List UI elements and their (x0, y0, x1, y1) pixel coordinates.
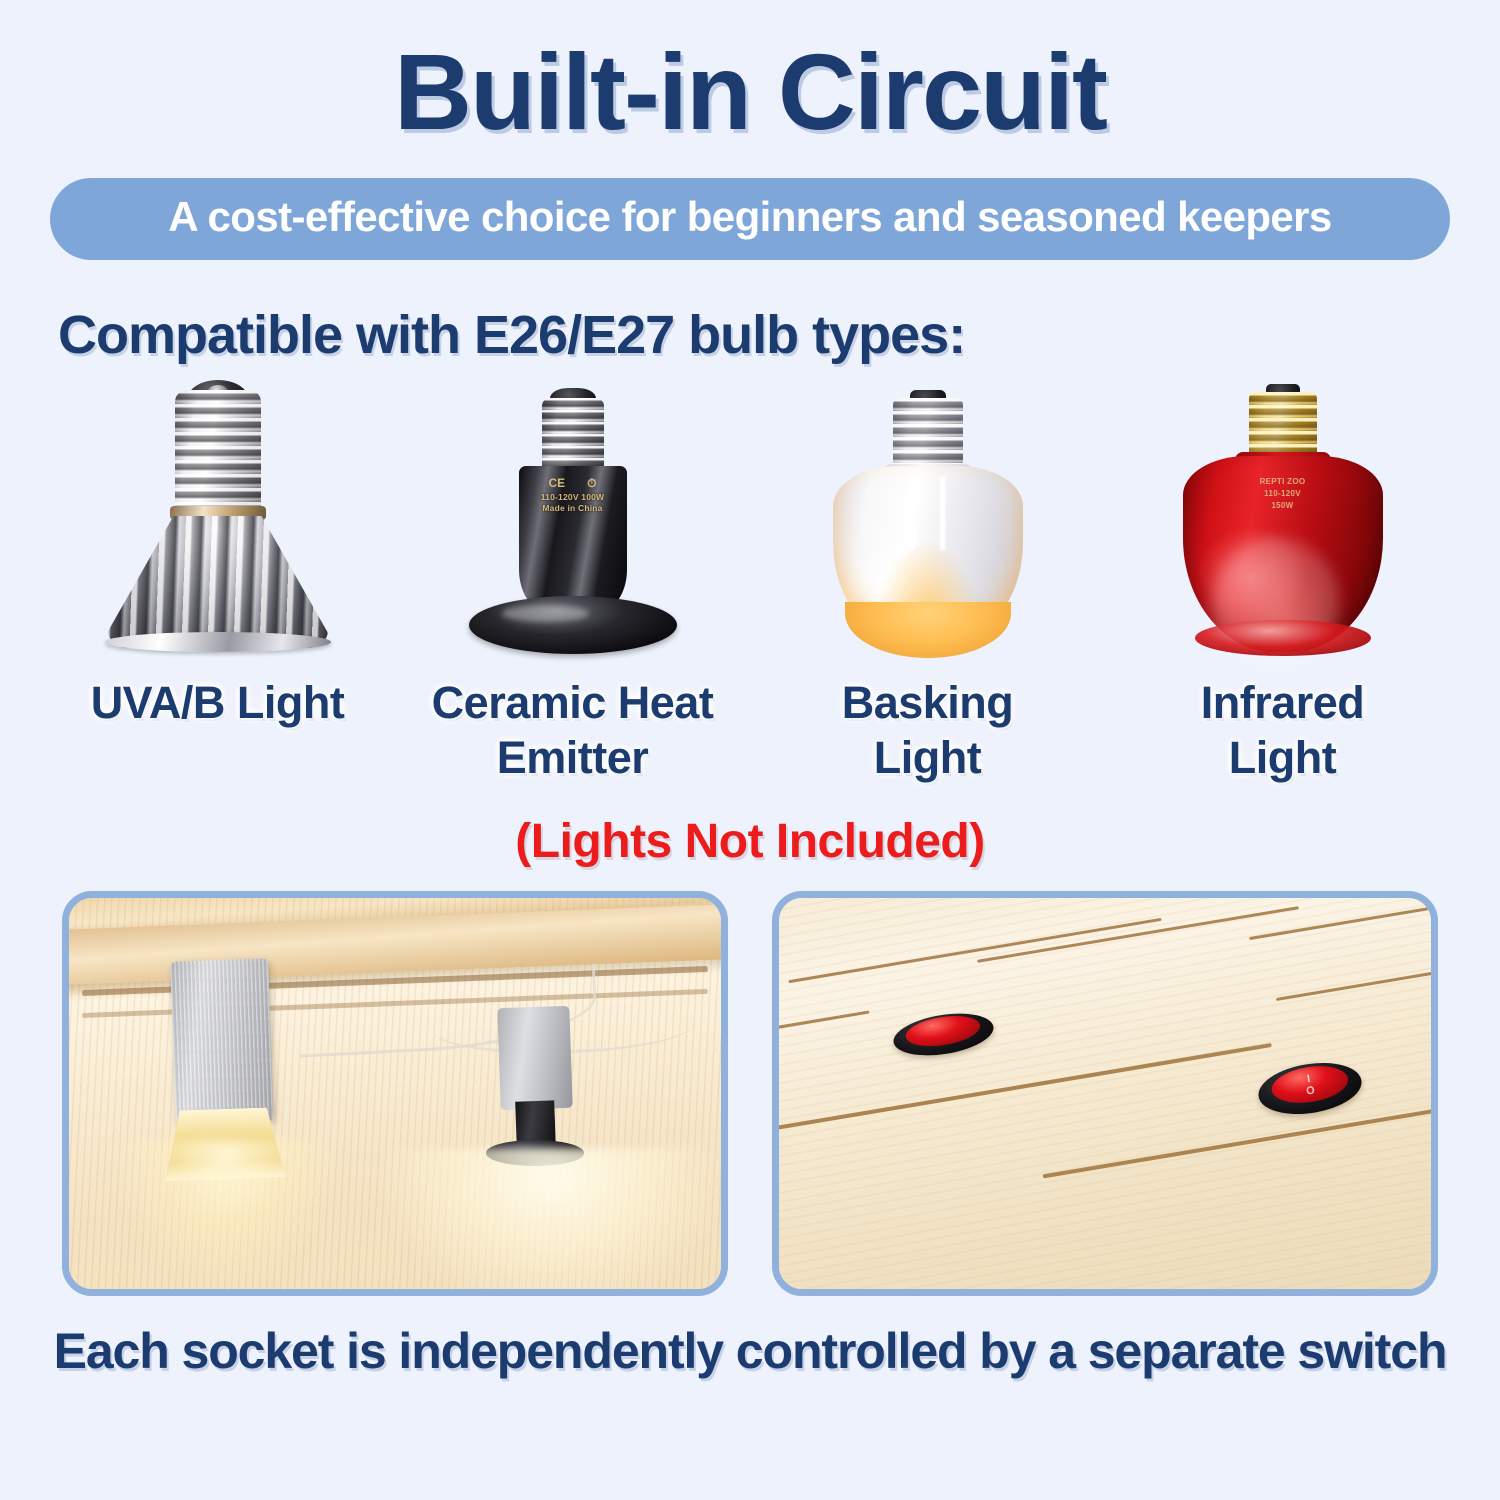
switch-off-label: O (1306, 1084, 1316, 1097)
lamp-socket (170, 959, 273, 1127)
bulb-item-infrared-light: REPTI ZOO 110-120V 150W InfraredLight (1105, 380, 1460, 786)
bulb-label-basking-light: BaskingLight (842, 676, 1014, 786)
infrared-markings: REPTI ZOO 110-120V 150W (1233, 476, 1333, 512)
bulb-label-infrared-light: InfraredLight (1201, 676, 1365, 786)
switch-on-off-mark: I O (1304, 1072, 1316, 1097)
lamp-socket (498, 1006, 573, 1110)
ceramic-origin-line: Made in China (521, 503, 625, 514)
page-title: Built-in Circuit (0, 0, 1500, 146)
brand-line: REPTI ZOO (1233, 476, 1333, 488)
ce-logo: CE (548, 476, 565, 491)
socket-installed-photo (62, 891, 728, 1296)
bulb-rim (1195, 620, 1371, 656)
bulb-light-glow (108, 1140, 343, 1296)
bulb-glow (845, 602, 1011, 658)
ceramic-base-disc (469, 596, 677, 654)
screw-base (1249, 392, 1317, 458)
bulb-item-ceramic-heat-emitter: CE ⏱ 110-120V 100W Made in China Ceramic… (395, 380, 750, 786)
ambient-light-glow (382, 1148, 721, 1296)
frosted-bulb-icon (750, 380, 1105, 670)
screw-base (175, 390, 261, 510)
ceramic-rating-line: 110-120V 100W (521, 492, 625, 503)
wattage-line: 150W (1233, 500, 1333, 512)
lights-not-included-note: (Lights Not Included) (0, 814, 1500, 869)
subtitle-pill: A cost-effective choice for beginners an… (50, 178, 1450, 260)
bulb-label-ceramic-heat-emitter: Ceramic HeatEmitter (432, 676, 714, 786)
red-bulb-icon: REPTI ZOO 110-120V 150W (1105, 380, 1460, 670)
rocker-switches-photo: I O (772, 891, 1438, 1296)
photo-row: I O (0, 891, 1500, 1296)
screw-base (893, 398, 963, 470)
bulb-item-basking-light: BaskingLight (750, 380, 1105, 786)
reflector-rim (105, 632, 331, 652)
voltage-line: 110-120V (1233, 488, 1333, 500)
bulb-label-uva-b: UVA/B Light (91, 676, 345, 731)
reflector-bulb-icon (40, 380, 395, 670)
bulb-type-row: UVA/B Light CE ⏱ 110-120V 100W Made in C… (0, 380, 1500, 786)
compatibility-heading: Compatible with E26/E27 bulb types: (58, 304, 1500, 366)
footer-caption: Each socket is independently controlled … (0, 1322, 1500, 1380)
ceramic-markings: 110-120V 100W Made in China (521, 492, 625, 515)
bulb-item-uva-b: UVA/B Light (40, 380, 395, 786)
filament (900, 476, 956, 550)
ce-mark-icon: CE ⏱ (521, 476, 625, 491)
hourglass-icon: ⏱ (587, 476, 596, 491)
subtitle-banner: A cost-effective choice for beginners an… (0, 178, 1500, 260)
screw-base (542, 398, 604, 472)
ceramic-emitter-icon: CE ⏱ 110-120V 100W Made in China (395, 380, 750, 670)
switch-on-label: I (1306, 1072, 1311, 1084)
reflector-cone (108, 516, 328, 648)
